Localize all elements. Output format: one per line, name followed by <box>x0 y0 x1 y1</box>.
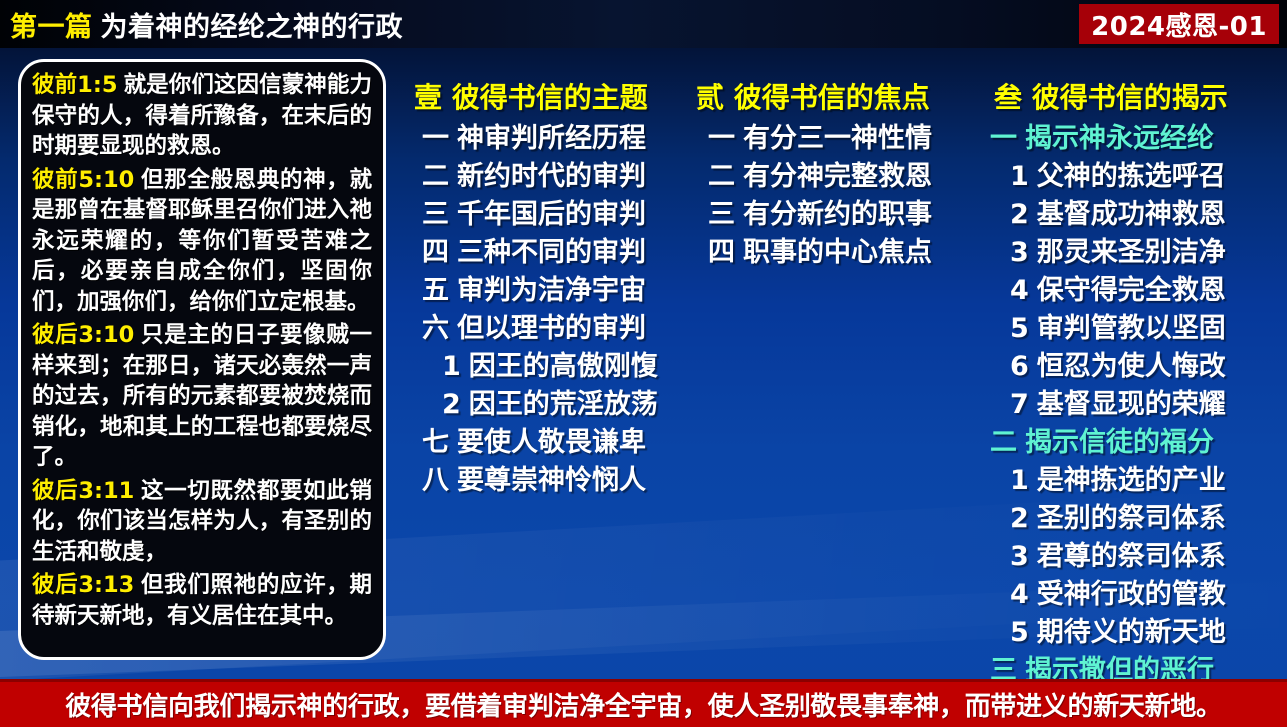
outline-item-label: 审判管教以坚固 <box>1037 313 1226 344</box>
outline-item-label: 期待义的新天地 <box>1037 617 1226 648</box>
outline-item-marker: 一 <box>708 123 735 154</box>
outline-item-marker: 二 <box>422 161 449 192</box>
outline-item-marker: 八 <box>422 465 449 496</box>
outline-item-marker: 一 <box>990 123 1017 154</box>
outline-item-marker: 7 <box>1010 389 1029 420</box>
outline-item-marker: 1 <box>1010 161 1029 192</box>
outline-item-marker: 四 <box>708 237 735 268</box>
outline-list: 一揭示神永远经纶1父神的拣选呼召2基督成功神救恩3那灵来圣别洁净4保守得完全救恩… <box>976 120 1282 727</box>
outline-item: 四职事的中心焦点 <box>686 234 978 272</box>
outline-item-marker: 二 <box>990 427 1017 458</box>
outline-item: 七要使人敬畏谦卑 <box>396 424 688 462</box>
outline-item-label: 有分新约的职事 <box>743 199 932 230</box>
outline-item-label: 基督显现的荣耀 <box>1037 389 1226 420</box>
outline-item-label: 审判为洁净宇宙 <box>457 275 646 306</box>
outline-item-label: 要尊崇神怜悯人 <box>457 465 646 496</box>
outline-item-label: 有分神完整救恩 <box>743 161 932 192</box>
outline-item-marker: 三 <box>708 199 735 230</box>
verse-reference: 彼前5:10 <box>32 167 134 193</box>
outline-item: 三有分新约的职事 <box>686 196 978 234</box>
footer-summary-text: 彼得书信向我们揭示神的行政，要借着审判洁净全宇宙，使人圣别敬畏事奉神，而带进义的… <box>65 686 1222 723</box>
verse-reference: 彼后3:11 <box>32 478 134 504</box>
outline-item-label: 君尊的祭司体系 <box>1037 541 1226 572</box>
outline-item-marker: 七 <box>422 427 449 458</box>
outline-item: 二揭示信徒的福分 <box>976 424 1282 462</box>
slide-root: 第一篇为着神的经纶之神的行政 2024感恩-01 彼前1:5就是你们这因信蒙神能… <box>0 0 1287 727</box>
outline-item: 1父神的拣选呼召 <box>976 158 1282 196</box>
outline-item-marker: 5 <box>1010 313 1029 344</box>
outline-item-marker: 五 <box>422 275 449 306</box>
outline-item: 2因王的荒淫放荡 <box>396 386 688 424</box>
outline-item: 一神审判所经历程 <box>396 120 688 158</box>
outline-item: 6恒忍为使人悔改 <box>976 348 1282 386</box>
outline-item-marker: 4 <box>1010 579 1029 610</box>
outline-column-3: 叁 彼得书信的揭示 一揭示神永远经纶1父神的拣选呼召2基督成功神救恩3那灵来圣别… <box>976 78 1282 727</box>
footer-bar: 彼得书信向我们揭示神的行政，要借着审判洁净全宇宙，使人圣别敬畏事奉神，而带进义的… <box>0 682 1287 727</box>
verse-item: 彼后3:10只是主的日子要像贼一样来到；在那日，诸天必轰然一声的过去，所有的元素… <box>32 320 372 473</box>
outline-heading: 壹 彼得书信的主题 <box>396 78 688 118</box>
outline-item-label: 千年国后的审判 <box>457 199 646 230</box>
verse-item: 彼后3:11这一切既然都要如此销化，你们该当怎样为人，有圣别的生活和敬虔， <box>32 476 372 568</box>
verse-reference: 彼前1:5 <box>32 72 118 98</box>
lesson-number: 第一篇 <box>10 12 93 43</box>
outline-item: 3君尊的祭司体系 <box>976 538 1282 576</box>
outline-item: 一揭示神永远经纶 <box>976 120 1282 158</box>
outline-item: 一有分三一神性情 <box>686 120 978 158</box>
outline-item-label: 因王的荒淫放荡 <box>469 389 658 420</box>
verse-reference: 彼后3:13 <box>32 572 134 598</box>
outline-item-marker: 二 <box>708 161 735 192</box>
outline-item-label: 但以理书的审判 <box>457 313 646 344</box>
outline-item-label: 恒忍为使人悔改 <box>1037 351 1226 382</box>
page-title: 第一篇为着神的经纶之神的行政 <box>10 5 403 44</box>
outline-item-marker: 1 <box>1010 465 1029 496</box>
outline-column-1: 壹 彼得书信的主题 一神审判所经历程二新约时代的审判三千年国后的审判四三种不同的… <box>396 78 688 500</box>
outline-item-label: 受神行政的管教 <box>1037 579 1226 610</box>
outline-item-label: 要使人敬畏谦卑 <box>457 427 646 458</box>
outline-item: 5期待义的新天地 <box>976 614 1282 652</box>
verse-item: 彼前1:5就是你们这因信蒙神能力保守的人，得着所豫备，在末后的时期要显现的救恩。 <box>32 70 372 162</box>
outline-item-marker: 一 <box>422 123 449 154</box>
outline-item-label: 父神的拣选呼召 <box>1037 161 1226 192</box>
outline-item-marker: 2 <box>1010 503 1029 534</box>
outline-item: 四三种不同的审判 <box>396 234 688 272</box>
outline-item-label: 是神拣选的产业 <box>1037 465 1226 496</box>
lesson-title: 为着神的经纶之神的行政 <box>101 12 404 43</box>
outline-item-label: 有分三一神性情 <box>743 123 932 154</box>
outline-item: 3那灵来圣别洁净 <box>976 234 1282 272</box>
outline-item-label: 三种不同的审判 <box>457 237 646 268</box>
header-bar: 第一篇为着神的经纶之神的行政 2024感恩-01 <box>0 0 1287 48</box>
outline-item: 六但以理书的审判 <box>396 310 688 348</box>
outline-item: 2圣别的祭司体系 <box>976 500 1282 538</box>
verse-item: 彼后3:13但我们照祂的应许，期待新天新地，有义居住在其中。 <box>32 570 372 631</box>
outline-item-label: 因王的高傲刚愎 <box>469 351 658 382</box>
outline-heading: 贰 彼得书信的焦点 <box>686 78 978 118</box>
verse-item: 彼前5:10但那全般恩典的神，就是那曾在基督耶稣里召你们进入祂永远荣耀的，等你们… <box>32 165 372 318</box>
outline-item-marker: 3 <box>1010 237 1029 268</box>
outline-item-label: 新约时代的审判 <box>457 161 646 192</box>
outline-item-marker: 2 <box>442 389 461 420</box>
outline-item: 八要尊崇神怜悯人 <box>396 462 688 500</box>
outline-item-marker: 5 <box>1010 617 1029 648</box>
outline-column-2: 贰 彼得书信的焦点 一有分三一神性情二有分神完整救恩三有分新约的职事四职事的中心… <box>686 78 978 272</box>
outline-item: 三千年国后的审判 <box>396 196 688 234</box>
outline-heading: 叁 彼得书信的揭示 <box>976 78 1282 118</box>
outline-item: 4保守得完全救恩 <box>976 272 1282 310</box>
outline-item-label: 职事的中心焦点 <box>743 237 932 268</box>
outline-item-label: 揭示神永远经纶 <box>1025 123 1214 154</box>
outline-item-label: 基督成功神救恩 <box>1037 199 1226 230</box>
outline-item-marker: 六 <box>422 313 449 344</box>
outline-item-marker: 四 <box>422 237 449 268</box>
outline-item-label: 那灵来圣别洁净 <box>1037 237 1226 268</box>
outline-item: 二新约时代的审判 <box>396 158 688 196</box>
verse-panel: 彼前1:5就是你们这因信蒙神能力保守的人，得着所豫备，在末后的时期要显现的救恩。… <box>18 59 386 660</box>
outline-item: 7基督显现的荣耀 <box>976 386 1282 424</box>
outline-item: 二有分神完整救恩 <box>686 158 978 196</box>
outline-item-label: 圣别的祭司体系 <box>1037 503 1226 534</box>
outline-item-label: 保守得完全救恩 <box>1037 275 1226 306</box>
outline-item-marker: 三 <box>422 199 449 230</box>
outline-item: 5审判管教以坚固 <box>976 310 1282 348</box>
outline-item-marker: 4 <box>1010 275 1029 306</box>
outline-item-marker: 3 <box>1010 541 1029 572</box>
verse-reference: 彼后3:10 <box>32 322 134 348</box>
outline-list: 一神审判所经历程二新约时代的审判三千年国后的审判四三种不同的审判五审判为洁净宇宙… <box>396 120 688 500</box>
outline-item: 4受神行政的管教 <box>976 576 1282 614</box>
outline-item-marker: 6 <box>1010 351 1029 382</box>
outline-item-label: 神审判所经历程 <box>457 123 646 154</box>
outline-item: 五审判为洁净宇宙 <box>396 272 688 310</box>
outline-list: 一有分三一神性情二有分神完整救恩三有分新约的职事四职事的中心焦点 <box>686 120 978 272</box>
status-badge: 2024感恩-01 <box>1079 4 1279 44</box>
outline-item: 2基督成功神救恩 <box>976 196 1282 234</box>
outline-item: 1是神拣选的产业 <box>976 462 1282 500</box>
outline-item-marker: 2 <box>1010 199 1029 230</box>
outline-item-label: 揭示信徒的福分 <box>1025 427 1214 458</box>
outline-item: 1因王的高傲刚愎 <box>396 348 688 386</box>
outline-item-marker: 1 <box>442 351 461 382</box>
